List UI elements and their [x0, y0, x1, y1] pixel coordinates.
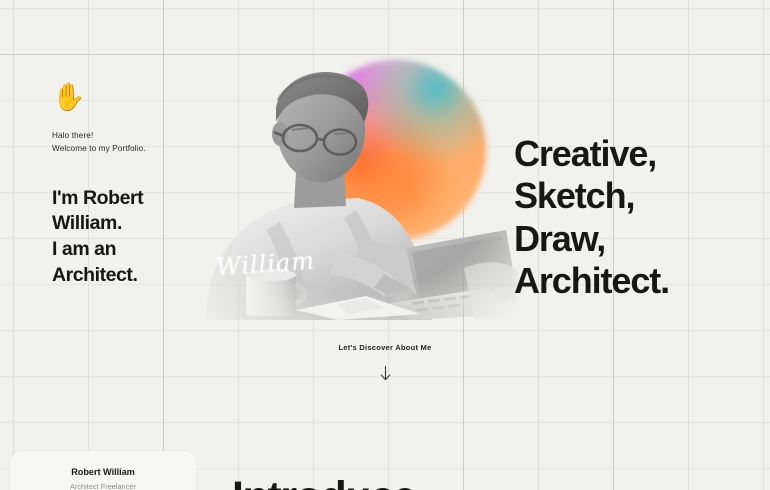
arrow-down-icon[interactable]	[380, 366, 391, 381]
profile-card-name: Robert William	[10, 467, 196, 477]
discover-label: Let's Discover About Me	[0, 343, 770, 352]
profile-card-role: Architect Freelancer	[10, 482, 196, 490]
right-headline-line-3: Draw,	[514, 218, 669, 260]
hero-photo-composite: William	[188, 52, 518, 320]
hero-section: ✋ Halo there! Welcome to my Portfolio. I…	[0, 0, 770, 400]
introduce-section: Robert William Architect Freelancer Intr…	[0, 400, 770, 490]
discover-scroll-cue[interactable]: Let's Discover About Me	[0, 343, 770, 381]
right-headline-line-1: Creative,	[514, 133, 669, 175]
hero-right-headline: Creative, Sketch, Draw, Architect.	[514, 133, 669, 303]
introduce-title: Introduce.	[232, 476, 426, 490]
portfolio-page: ✋ Halo there! Welcome to my Portfolio. I…	[0, 0, 770, 490]
profile-card[interactable]: Robert William Architect Freelancer	[10, 451, 196, 490]
portrait-photo	[188, 52, 518, 320]
right-headline-line-4: Architect.	[514, 260, 669, 302]
right-headline-line-2: Sketch,	[514, 175, 669, 217]
